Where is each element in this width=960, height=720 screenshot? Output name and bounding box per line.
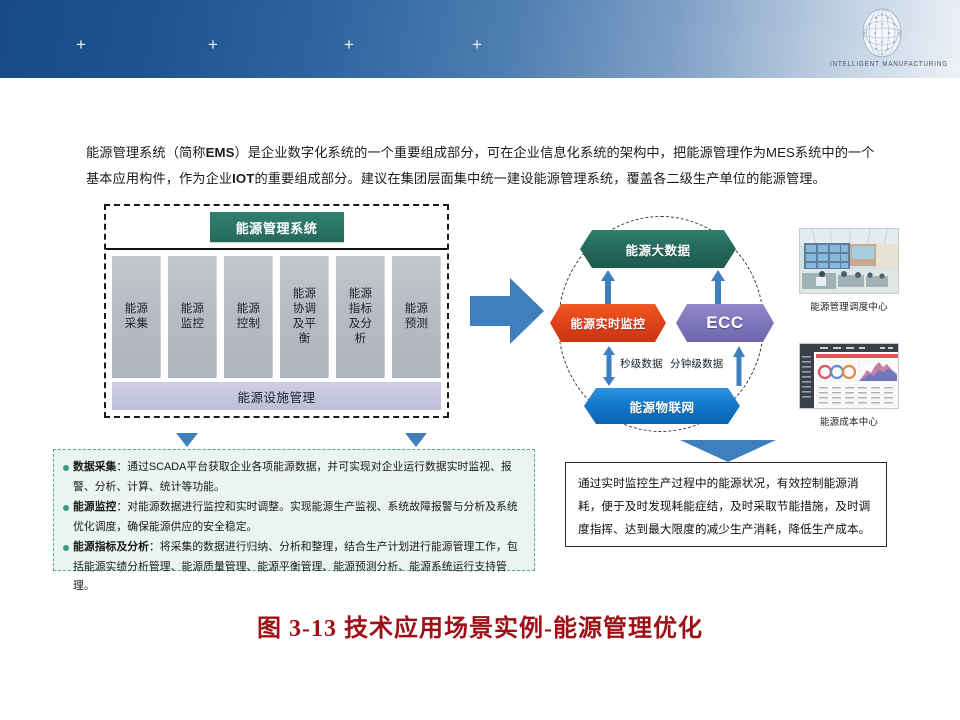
thumbnail-caption: 能源成本中心	[795, 414, 903, 428]
plus-decoration-icon: +	[472, 36, 482, 53]
intro-paragraph: 能源管理系统（简称EMS）是企业数字化系统的一个重要组成部分，可在企业信息化系统…	[86, 140, 876, 192]
thumbnail-cost-center[interactable]: 能源成本中心	[795, 343, 903, 428]
thumbnail-caption: 能源管理调度中心	[795, 299, 903, 313]
control-room-photo	[799, 228, 899, 294]
ems-pillar-control[interactable]: 能源控制	[224, 256, 273, 378]
plus-decoration-icon: +	[208, 36, 218, 53]
flow-label-minute-level: 分钟级数据	[670, 356, 724, 371]
node-ecc[interactable]: ECC	[676, 304, 774, 342]
intro-line1-part1: 能源管理系统（简称	[86, 145, 206, 160]
ems-pillar-indicator[interactable]: 能源指标及分析	[336, 256, 385, 378]
bullet-dot-icon	[63, 465, 69, 471]
ems-pillar-label: 能源控制	[236, 302, 262, 332]
benefit-callout-box: 通过实时监控生产过程中的能源状况，有效控制能源消耗，便于及时发现耗能症结，及时采…	[565, 462, 887, 547]
wireframe-globe-icon	[856, 6, 908, 60]
intro-line2-part3: 的重要组成部分。建议在集团层面集中统一建设能源管理系统，覆盖各二级生产单位的能源…	[254, 171, 825, 186]
ems-architecture-panel: 能源管理系统 能源采集 能源监控 能源控制 能源协调及平衡 能源指标及分析 能源…	[104, 204, 449, 418]
feature-bullets-callout: 数据采集：通过SCADA平台获取企业各项能源数据，并可实现对企业运行数据实时监视…	[53, 449, 535, 571]
bullet-item-energy-monitoring: 能源监控：对能源数据进行监控和实时调整。实现能源生产监视、系统故障报警与分析及系…	[63, 498, 525, 537]
flow-label-second-level: 秒级数据	[620, 356, 663, 371]
node-energy-big-data[interactable]: 能源大数据	[580, 230, 736, 268]
brand-logo-text: INTELLIGENT MANUFACTURING	[830, 60, 934, 68]
bullet-item-indicator-analysis: 能源指标及分析：将采集的数据进行归纳、分析和整理，结合生产计划进行能源管理工作，…	[63, 538, 525, 597]
bullet-lead: 能源监控	[73, 501, 116, 513]
intro-line2-part1: 应用构件，作为企业	[113, 171, 233, 186]
ems-pillar-label: 能源指标及分析	[347, 287, 375, 347]
thumbnail-dispatch-center[interactable]: 能源管理调度中心	[795, 228, 903, 313]
bullet-dot-icon	[63, 545, 69, 551]
dashboard-screenshot-icon	[800, 344, 899, 409]
header-banner: + + + + INTELLIGENT MANUFA	[0, 0, 960, 78]
slide-canvas: + + + + INTELLIGENT MANUFA	[0, 0, 960, 720]
intro-iot-term: IOT	[232, 171, 254, 186]
ems-pillar-label: 能源采集	[124, 302, 150, 332]
connector-triangle-right-icon	[405, 433, 427, 447]
ems-title-row: 能源管理系统	[106, 206, 447, 250]
connector-triangle-left-icon	[176, 433, 198, 447]
brand-logo: INTELLIGENT MANUFACTURING	[830, 6, 934, 68]
node-realtime-monitoring[interactable]: 能源实时监控	[550, 304, 666, 342]
ems-title-badge: 能源管理系统	[210, 212, 344, 242]
bullet-lead: 数据采集	[73, 461, 116, 473]
bullet-item-data-collection: 数据采集：通过SCADA平台获取企业各项能源数据，并可实现对企业运行数据实时监视…	[63, 458, 525, 497]
connector-triangle-wide-icon	[680, 440, 776, 462]
bullet-dot-icon	[63, 505, 69, 511]
ems-pillar-label: 能源预测	[404, 302, 430, 332]
plus-decoration-icon: +	[344, 36, 354, 53]
ems-pillar-label: 能源监控	[180, 302, 206, 332]
plus-decoration-icon: +	[76, 36, 86, 53]
ems-pillar-coordination[interactable]: 能源协调及平衡	[280, 256, 329, 378]
ems-pillar-monitoring[interactable]: 能源监控	[168, 256, 217, 378]
arrow-up-minute-level-icon	[732, 346, 746, 386]
ems-facility-bar: 能源设施管理	[112, 382, 441, 410]
node-energy-iot[interactable]: 能源物联网	[584, 388, 740, 424]
ems-pillar-label: 能源协调及平衡	[291, 287, 319, 347]
figure-caption: 图 3-13 技术应用场景实例-能源管理优化	[0, 608, 960, 643]
arrow-up-ecc-to-bigdata-icon	[710, 270, 726, 304]
right-arrow-icon	[470, 278, 544, 344]
benefit-callout-text: 通过实时监控生产过程中的能源状况，有效控制能源消耗，便于及时发现耗能症结，及时采…	[578, 472, 874, 541]
ems-pillar-forecast[interactable]: 能源预测	[392, 256, 441, 378]
ems-pillar-collection[interactable]: 能源采集	[112, 256, 161, 378]
intro-ems-term: EMS	[206, 145, 235, 160]
control-room-photo-icon	[800, 229, 899, 294]
ecc-flow-diagram: 能源大数据 能源实时监控 ECC 能源物联网 秒级数据 分钟级数据	[548, 212, 780, 440]
ems-pillar-group: 能源采集 能源监控 能源控制 能源协调及平衡 能源指标及分析 能源预测	[112, 256, 441, 378]
bullet-lead: 能源指标及分析	[73, 541, 149, 553]
arrow-double-second-level-icon	[602, 346, 616, 386]
dashboard-screenshot	[799, 343, 899, 409]
arrow-up-monitor-to-bigdata-icon	[600, 270, 616, 304]
bullet-body: ：对能源数据进行监控和实时调整。实现能源生产监视、系统故障报警与分析及系统优化调…	[73, 501, 518, 533]
bullet-body: ：通过SCADA平台获取企业各项能源数据，并可实现对企业运行数据实时监视、报警、…	[73, 461, 512, 493]
